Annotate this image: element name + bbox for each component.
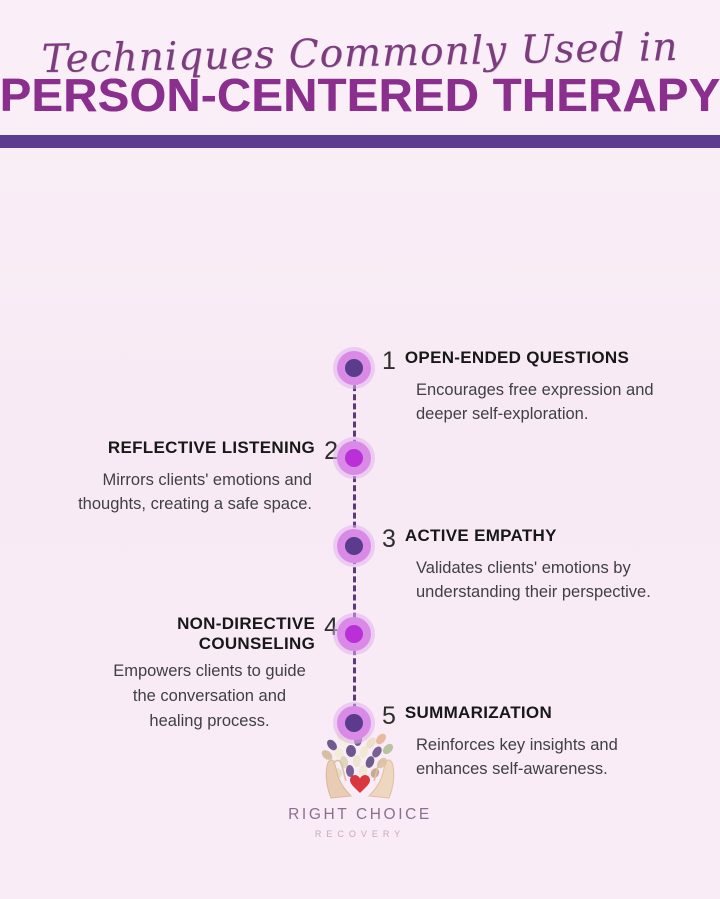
timeline-item-3: 3 ACTIVE EMPATHY Validates clients' emot… [382, 526, 682, 606]
node-core-icon [345, 714, 363, 732]
node-core-icon [345, 449, 363, 467]
item-description: Empowers clients to guide the conversati… [107, 659, 312, 733]
node-core-icon [345, 359, 363, 377]
header-divider-band [0, 135, 720, 148]
timeline-item-2: REFLECTIVE LISTENING 2 Mirrors clients' … [38, 438, 338, 518]
item-description: Validates clients' emotions by understan… [416, 556, 682, 606]
timeline-node-2 [337, 441, 371, 475]
timeline-item-4: NON-DIRECTIVE COUNSELING 4 Empowers clie… [38, 614, 338, 734]
item-number: 4 [324, 615, 338, 640]
logo-name: RIGHT CHOICE [0, 806, 720, 824]
timeline-node-4 [337, 617, 371, 651]
infographic-page: Techniques Commonly Used in PERSON-CENTE… [0, 0, 720, 899]
item-title: ACTIVE EMPATHY [405, 526, 557, 547]
item-title: NON-DIRECTIVE COUNSELING [100, 614, 315, 655]
timeline-item-1: 1 OPEN-ENDED QUESTIONS Encourages free e… [382, 348, 682, 428]
timeline-node-1 [337, 351, 371, 385]
node-core-icon [345, 537, 363, 555]
item-number: 5 [382, 704, 396, 729]
item-description: Mirrors clients' emotions and thoughts, … [38, 468, 312, 518]
item-title: REFLECTIVE LISTENING [108, 438, 315, 459]
item-number: 2 [324, 439, 338, 464]
header: Techniques Commonly Used in PERSON-CENTE… [0, 0, 720, 148]
item-number: 3 [382, 527, 396, 552]
item-description: Encourages free expression and deeper se… [416, 378, 682, 428]
item-title: SUMMARIZATION [405, 703, 552, 724]
item-number: 1 [382, 349, 396, 374]
timeline: 1 OPEN-ENDED QUESTIONS Encourages free e… [0, 148, 720, 628]
item-title: OPEN-ENDED QUESTIONS [405, 348, 629, 369]
timeline-node-5 [337, 706, 371, 740]
footer-logo: RIGHT CHOICE RECOVERY [0, 726, 720, 839]
page-title: PERSON-CENTERED THERAPY [0, 71, 720, 121]
timeline-node-3 [337, 529, 371, 563]
node-core-icon [345, 625, 363, 643]
logo-subtitle: RECOVERY [0, 829, 720, 839]
